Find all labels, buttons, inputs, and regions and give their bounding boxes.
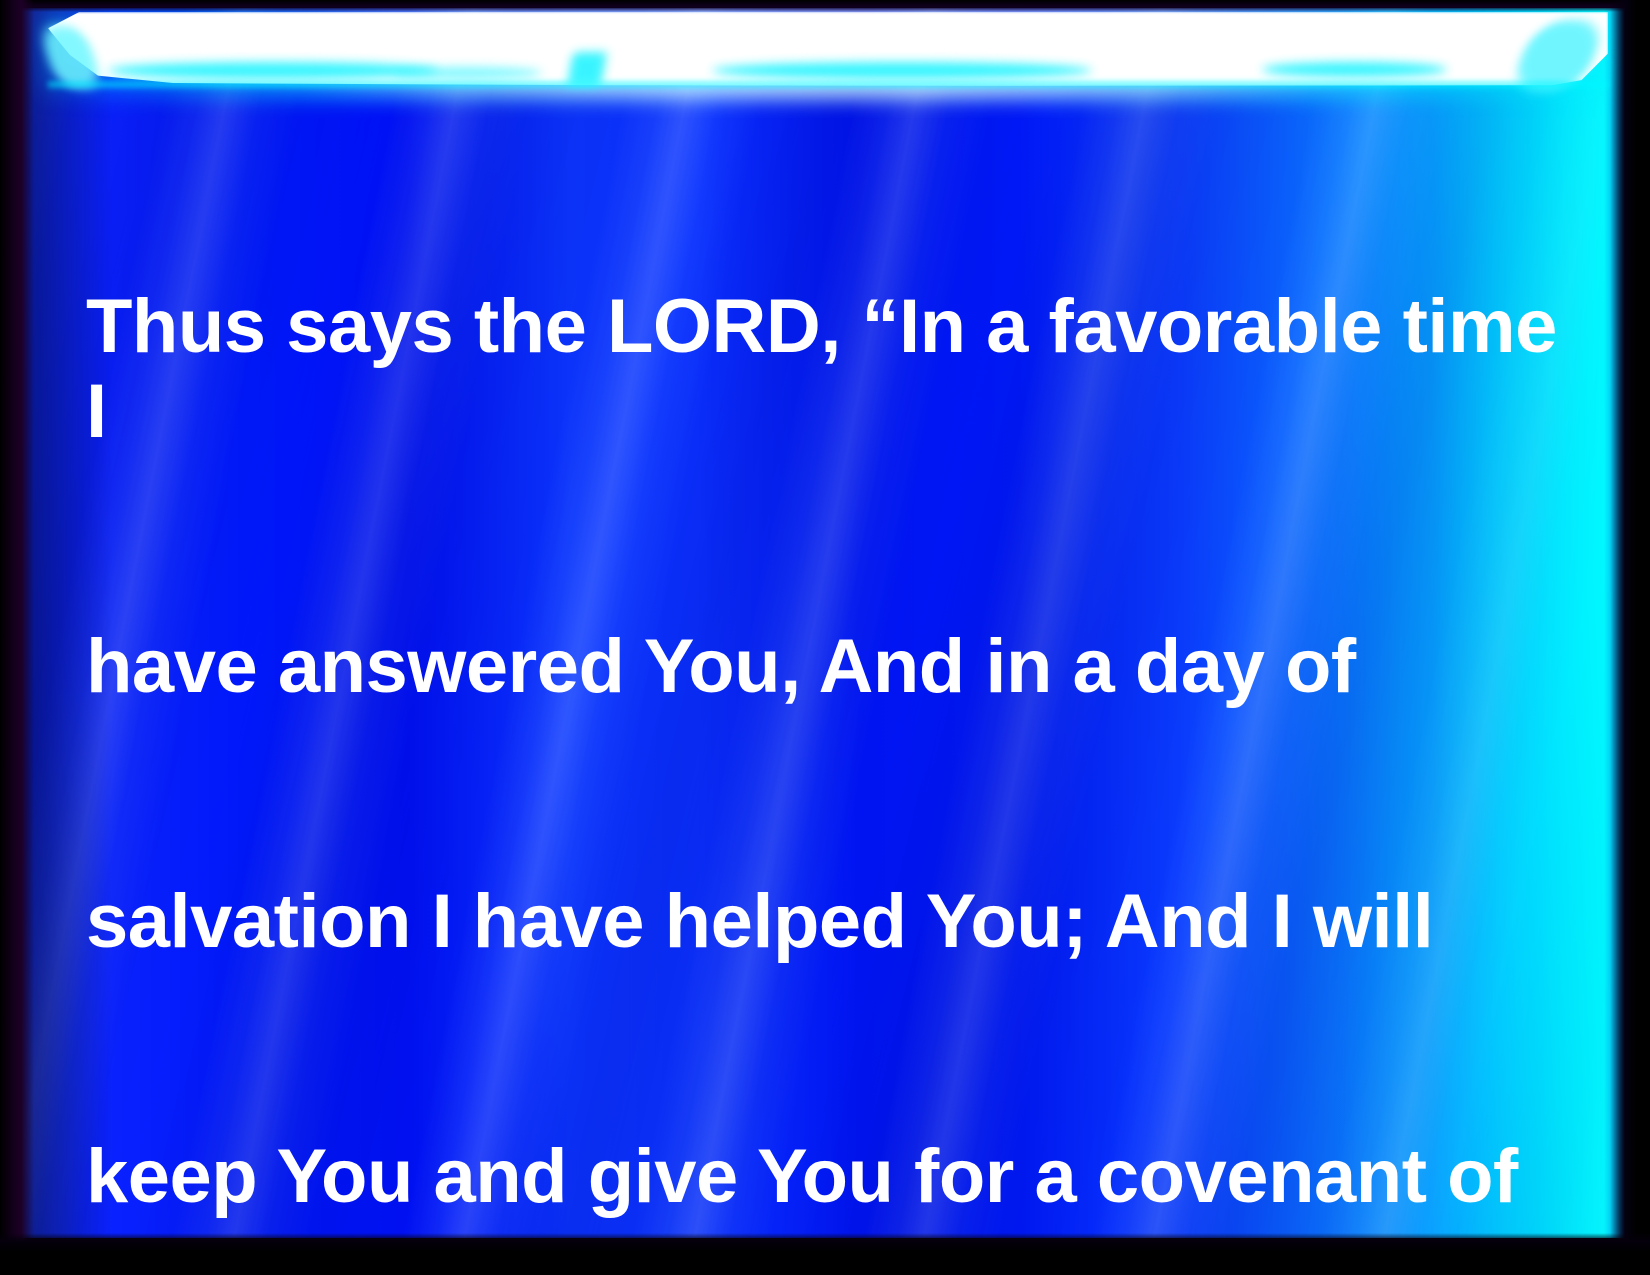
top-light-band	[22, 8, 1630, 118]
band-wisp-icon	[392, 67, 542, 79]
verse-line-3: salvation I have helped You; And I will	[86, 879, 1580, 964]
verse-line-4: keep You and give You for a covenant of	[86, 1134, 1580, 1219]
top-band-underline	[48, 82, 1608, 90]
background-right-edge	[1604, 8, 1630, 1238]
band-wisp-icon	[108, 62, 438, 79]
band-wisp-icon	[712, 62, 1092, 79]
scripture-slide: Thus says the LORD, “In a favorable time…	[0, 0, 1650, 1275]
verse-line-1: Thus says the LORD, “In a favorable time…	[86, 284, 1580, 454]
band-wisp-icon	[567, 52, 607, 86]
verse-line-2: have answered You, And in a day of	[86, 624, 1580, 709]
band-wisp-icon	[1262, 62, 1447, 77]
verse-text-block: Thus says the LORD, “In a favorable time…	[86, 114, 1580, 1275]
